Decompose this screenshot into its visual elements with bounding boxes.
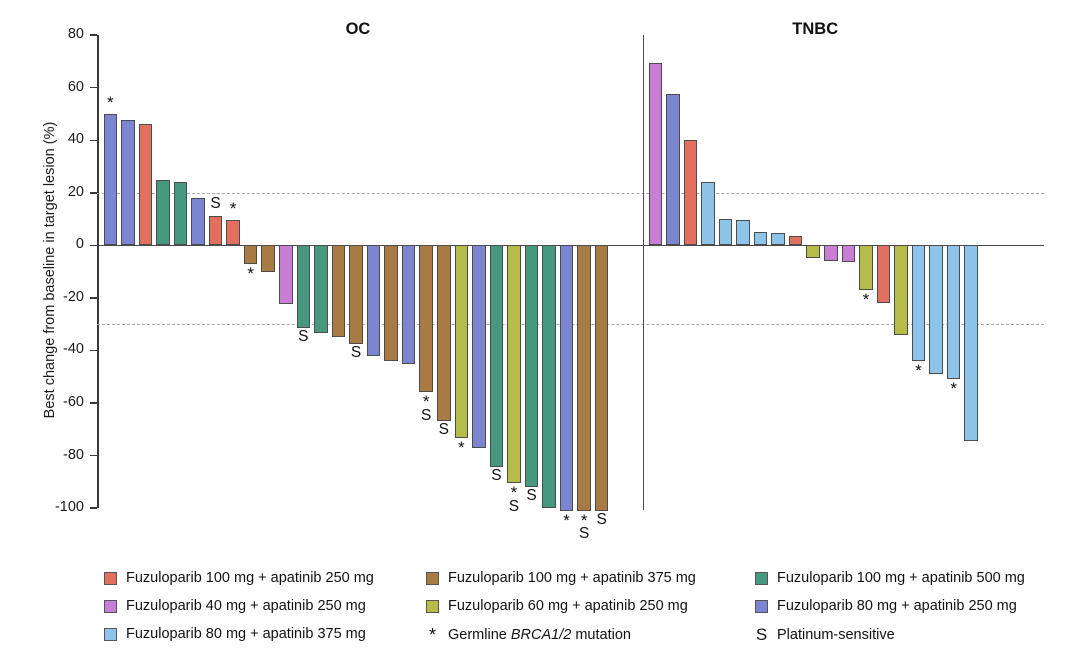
waterfall-bar <box>156 180 170 246</box>
waterfall-bar <box>314 245 328 333</box>
waterfall-bar <box>929 245 943 374</box>
legend-item[interactable]: Fuzuloparib 80 mg + apatinib 375 mg <box>104 626 366 642</box>
waterfall-bar <box>877 245 891 303</box>
waterfall-bar <box>595 245 609 510</box>
waterfall-bar <box>244 245 258 263</box>
waterfall-bar <box>455 245 469 438</box>
brca-mutation-marker: * <box>223 200 243 217</box>
y-tick-label: -80 <box>18 447 84 463</box>
waterfall-bar <box>332 245 346 337</box>
waterfall-bar <box>384 245 398 361</box>
waterfall-bar <box>297 245 311 328</box>
y-axis-line <box>97 35 99 508</box>
y-tick-mark <box>90 87 97 89</box>
waterfall-chart-figure: Best change from baseline in target lesi… <box>0 0 1080 660</box>
platinum-sensitive-marker: S <box>346 345 366 361</box>
waterfall-bar <box>666 94 680 245</box>
platinum-sensitive-marker: S <box>574 526 594 542</box>
legend-color-swatch <box>426 600 439 613</box>
y-tick-label: 80 <box>18 26 84 42</box>
y-tick-label: 40 <box>18 131 84 147</box>
y-tick-label: -40 <box>18 341 84 357</box>
waterfall-bar <box>684 140 698 245</box>
legend-item[interactable]: Fuzuloparib 100 mg + apatinib 250 mg <box>104 570 374 586</box>
waterfall-bar <box>261 245 275 271</box>
legend-label: Platinum-sensitive <box>777 627 895 643</box>
panel-title-tnbc: TNBC <box>755 20 875 39</box>
legend: Fuzuloparib 100 mg + apatinib 250 mgFuzu… <box>0 556 1080 660</box>
waterfall-bar <box>139 124 153 245</box>
waterfall-bar <box>789 236 803 245</box>
waterfall-bar <box>419 245 433 392</box>
brca-mutation-marker-icon: * <box>426 626 439 644</box>
y-tick-mark <box>90 350 97 352</box>
legend-item[interactable]: *Germline BRCA1/2 mutation <box>426 626 631 644</box>
legend-label: Germline BRCA1/2 mutation <box>448 627 631 643</box>
waterfall-bar <box>121 120 135 245</box>
legend-color-swatch <box>104 628 117 641</box>
y-tick-label: -20 <box>18 289 84 305</box>
waterfall-bar <box>349 245 363 344</box>
legend-item[interactable]: Fuzuloparib 80 mg + apatinib 250 mg <box>755 598 1017 614</box>
legend-label: Fuzuloparib 100 mg + apatinib 250 mg <box>126 570 374 586</box>
legend-label: Fuzuloparib 40 mg + apatinib 250 mg <box>126 598 366 614</box>
waterfall-bar <box>472 245 486 447</box>
legend-item[interactable]: Fuzuloparib 100 mg + apatinib 500 mg <box>755 570 1025 586</box>
waterfall-bar <box>226 220 240 245</box>
legend-color-swatch <box>755 600 768 613</box>
waterfall-bar <box>824 245 838 261</box>
legend-label: Fuzuloparib 80 mg + apatinib 250 mg <box>777 598 1017 614</box>
platinum-sensitive-marker: S <box>486 468 506 484</box>
brca-mutation-marker: * <box>909 362 929 379</box>
waterfall-bar <box>507 245 521 483</box>
platinum-sensitive-marker: S <box>293 329 313 345</box>
y-tick-mark <box>90 507 97 509</box>
legend-label: Fuzuloparib 100 mg + apatinib 375 mg <box>448 570 696 586</box>
waterfall-bar <box>490 245 504 467</box>
waterfall-bar <box>719 219 733 245</box>
y-tick-mark <box>90 297 97 299</box>
legend-color-swatch <box>755 572 768 585</box>
y-tick-mark <box>90 245 97 247</box>
waterfall-bar <box>736 220 750 245</box>
legend-item[interactable]: SPlatinum-sensitive <box>755 626 895 643</box>
legend-color-swatch <box>426 572 439 585</box>
waterfall-bar <box>806 245 820 258</box>
y-tick-mark <box>90 192 97 194</box>
waterfall-bar <box>859 245 873 290</box>
y-tick-label: 20 <box>18 184 84 200</box>
y-tick-mark <box>90 34 97 36</box>
platinum-sensitive-marker: S <box>434 422 454 438</box>
platinum-sensitive-marker: S <box>592 512 612 528</box>
legend-item[interactable]: Fuzuloparib 100 mg + apatinib 375 mg <box>426 570 696 586</box>
y-tick-label: -60 <box>18 394 84 410</box>
legend-color-swatch <box>104 600 117 613</box>
legend-label: Fuzuloparib 60 mg + apatinib 250 mg <box>448 598 688 614</box>
y-tick-mark <box>90 402 97 404</box>
reference-line <box>97 193 1044 194</box>
legend-item[interactable]: Fuzuloparib 60 mg + apatinib 250 mg <box>426 598 688 614</box>
waterfall-bar <box>771 233 785 245</box>
y-tick-mark <box>90 455 97 457</box>
waterfall-bar <box>174 182 188 245</box>
waterfall-bar <box>701 182 715 245</box>
legend-color-swatch <box>104 572 117 585</box>
platinum-sensitive-marker: S <box>522 488 542 504</box>
y-axis-title: Best change from baseline in target lesi… <box>42 20 58 520</box>
waterfall-bar <box>367 245 381 355</box>
waterfall-bar <box>542 245 556 508</box>
waterfall-bar <box>964 245 978 441</box>
platinum-sensitive-marker-icon: S <box>755 626 768 643</box>
waterfall-bar <box>912 245 926 361</box>
waterfall-bar <box>649 63 663 246</box>
legend-item[interactable]: Fuzuloparib 40 mg + apatinib 250 mg <box>104 598 366 614</box>
brca-mutation-marker: * <box>100 94 120 111</box>
waterfall-bar <box>525 245 539 487</box>
waterfall-bar <box>577 245 591 510</box>
waterfall-bar <box>209 216 223 245</box>
y-tick-mark <box>90 140 97 142</box>
waterfall-bar <box>402 245 416 363</box>
legend-label: Fuzuloparib 100 mg + apatinib 500 mg <box>777 570 1025 586</box>
brca-mutation-marker: * <box>856 291 876 308</box>
brca-mutation-marker: * <box>944 380 964 397</box>
waterfall-bar <box>842 245 856 262</box>
waterfall-bar <box>437 245 451 421</box>
waterfall-bar <box>560 245 574 510</box>
waterfall-bar <box>754 232 768 245</box>
y-tick-label: 60 <box>18 79 84 95</box>
brca-mutation-marker: * <box>241 265 261 282</box>
legend-label: Fuzuloparib 80 mg + apatinib 375 mg <box>126 626 366 642</box>
waterfall-bar <box>191 198 205 245</box>
panel-title-oc: OC <box>298 20 418 39</box>
waterfall-bar <box>947 245 961 379</box>
plot-area: Best change from baseline in target lesi… <box>0 0 1080 545</box>
brca-mutation-marker: * <box>451 439 471 456</box>
panel-divider <box>643 35 644 510</box>
y-tick-label: 0 <box>18 236 84 252</box>
waterfall-bar <box>104 114 118 245</box>
y-tick-label: -100 <box>18 499 84 515</box>
waterfall-bar <box>279 245 293 304</box>
waterfall-bar <box>894 245 908 334</box>
platinum-sensitive-marker: S <box>416 408 436 424</box>
